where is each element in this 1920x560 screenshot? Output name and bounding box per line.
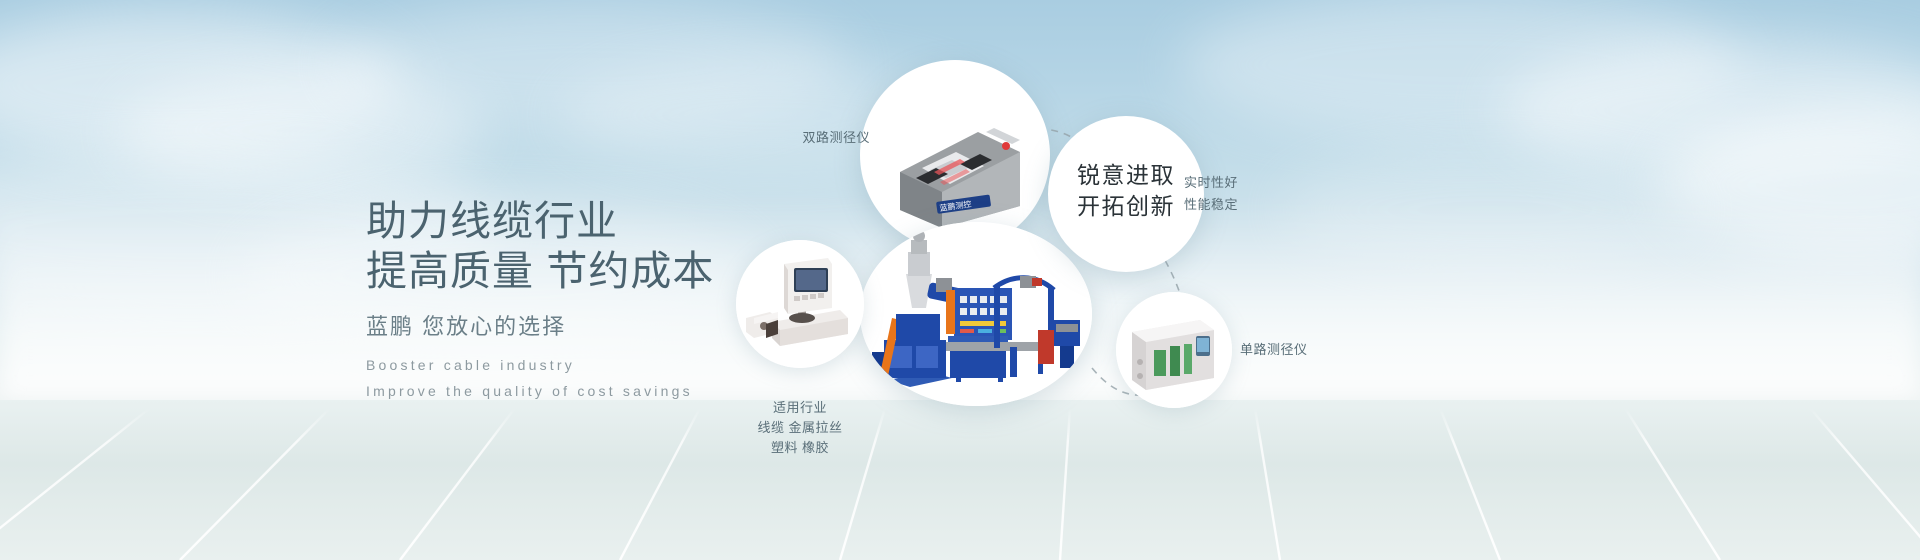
slogan-line-1: 锐意进取 [1048,160,1204,191]
label-dual-gauge: 双路测径仪 [680,128,870,147]
label-feature-1: 实时性好 [1184,172,1238,194]
control-unit-illustration [736,240,864,368]
headline-line-1: 助力线缆行业 [366,196,714,246]
extrusion-line-illustration [860,222,1092,406]
headline-line-2: 提高质量 节约成本 [366,246,714,296]
hero-banner: 助力线缆行业 提高质量 节约成本 蓝鹏 您放心的选择 Booster cable… [0,0,1920,560]
label-industry-line-2: 塑料 橡胶 [718,438,882,458]
bubble-control-unit[interactable] [736,240,864,368]
bubble-extrusion-line[interactable] [860,222,1092,406]
headline-copy-block: 助力线缆行业 提高质量 节约成本 蓝鹏 您放心的选择 Booster cable… [366,196,714,404]
english-line-1: Booster cable industry [366,352,714,378]
slogan-text: 锐意进取 开拓创新 [1048,160,1204,222]
english-line-2: Improve the quality of cost savings [366,378,714,404]
label-feature-2: 性能稳定 [1184,194,1238,216]
label-features: 实时性好 性能稳定 [1184,172,1238,216]
product-cluster: 蓝鹏测控 双路测径仪 [700,0,1920,560]
label-industry-block: 适用行业 线缆 金属拉丝 塑料 橡胶 [718,398,882,458]
label-industry-title: 适用行业 [718,398,882,418]
label-industry-line-1: 线缆 金属拉丝 [718,418,882,438]
label-single-gauge: 单路测径仪 [1240,340,1308,359]
subtitle: 蓝鹏 您放心的选择 [366,312,714,342]
single-gauge-illustration [1116,292,1232,408]
slogan-line-2: 开拓创新 [1048,191,1204,222]
bubble-single-gauge[interactable] [1116,292,1232,408]
